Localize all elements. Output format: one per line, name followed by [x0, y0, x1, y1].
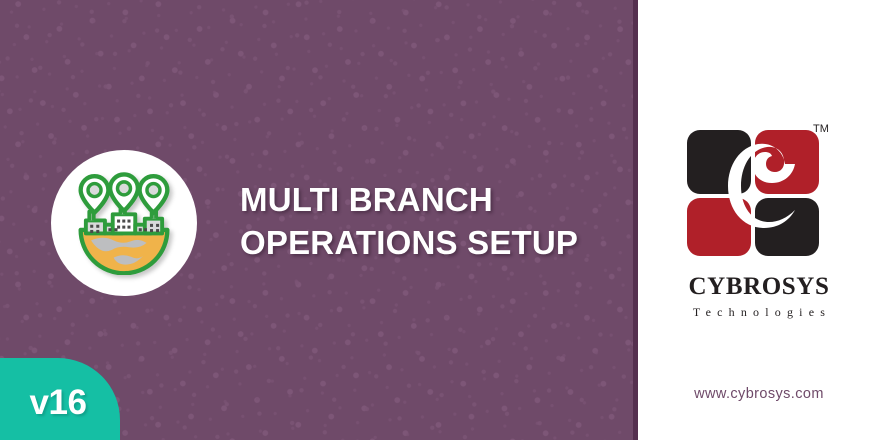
banner-title: MULTI BRANCH OPERATIONS SETUP: [240, 178, 630, 264]
brand-block: TM CYBROSYS Technologies: [638, 112, 880, 318]
trademark-glyph: TM: [813, 123, 829, 135]
map-pin-group: [81, 174, 168, 212]
brand-name: CYBROSYS: [689, 274, 830, 299]
version-badge-label: v16: [30, 379, 91, 420]
cybrosys-logo: TM: [681, 112, 837, 260]
multi-branch-globe-icon: [72, 171, 176, 275]
feature-icon-badge: [51, 150, 197, 296]
brand-tagline: Technologies: [687, 306, 831, 318]
right-white-panel: TM CYBROSYS Technologies www.cybrosys.co…: [638, 0, 880, 440]
cybrosys-logo-mark: TM: [681, 112, 837, 260]
website-url: www.cybrosys.com: [638, 386, 880, 402]
banner-title-line-2: OPERATIONS SETUP: [240, 221, 630, 264]
banner-title-line-1: MULTI BRANCH: [240, 178, 630, 221]
promo-banner: MULTI BRANCH OPERATIONS SETUP v16 TM: [0, 0, 880, 440]
